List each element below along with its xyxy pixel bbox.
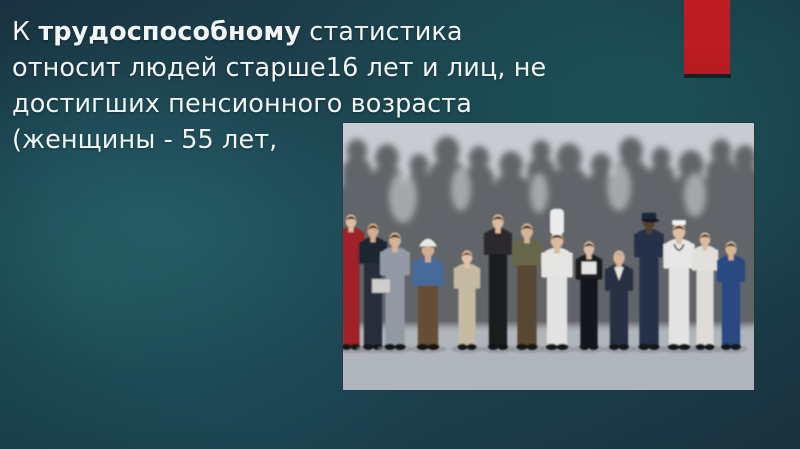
photo-illustration [343,123,754,390]
body-text-line-2: относит людей старше16 лет и лиц, не [12,50,672,86]
line1-suffix: статистика [301,17,463,47]
red-accent-bar-shadow [684,74,731,78]
presentation-slide: К трудоспособному статистика относит люд… [0,0,800,449]
body-text-line-1: К трудоспособному статистика [12,14,672,50]
line1-bold-term: трудоспособному [38,17,301,47]
group-of-workers-photo [343,123,754,390]
red-accent-bar [684,0,730,74]
body-text-line-3: достигших пенсионного возраста [12,86,672,122]
line1-prefix: К [12,17,38,47]
